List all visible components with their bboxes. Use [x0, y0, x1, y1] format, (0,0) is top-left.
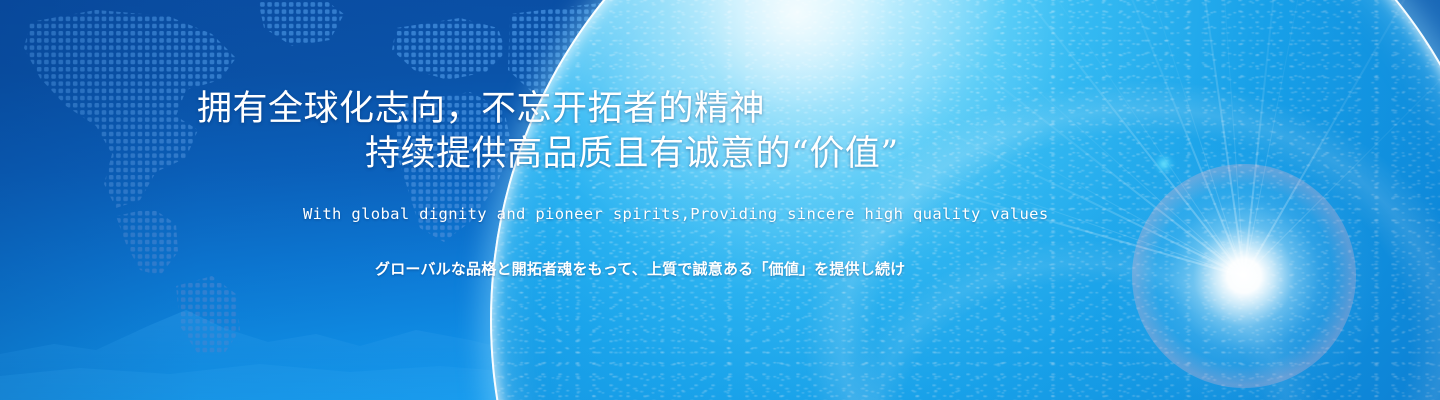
banner-copy: 拥有全球化志向，不忘开拓者的精神 持续提供高品质且有诚意的“价值” With g… — [0, 0, 1100, 400]
headline-line-2: 持续提供高品质且有诚意的“价值” — [365, 133, 899, 176]
subtitle-english: With global dignity and pioneer spirits,… — [303, 205, 1049, 223]
headline-line-1: 拥有全球化志向，不忘开拓者的精神 — [197, 88, 765, 131]
hero-banner: 拥有全球化志向，不忘开拓者的精神 持续提供高品质且有诚意的“价值” With g… — [0, 0, 1440, 400]
subtitle-japanese: グローバルな品格と開拓者魂をもって、上質で誠意ある「価値」を提供し続け — [375, 258, 905, 279]
lens-flare-dot-icon — [1153, 153, 1175, 175]
